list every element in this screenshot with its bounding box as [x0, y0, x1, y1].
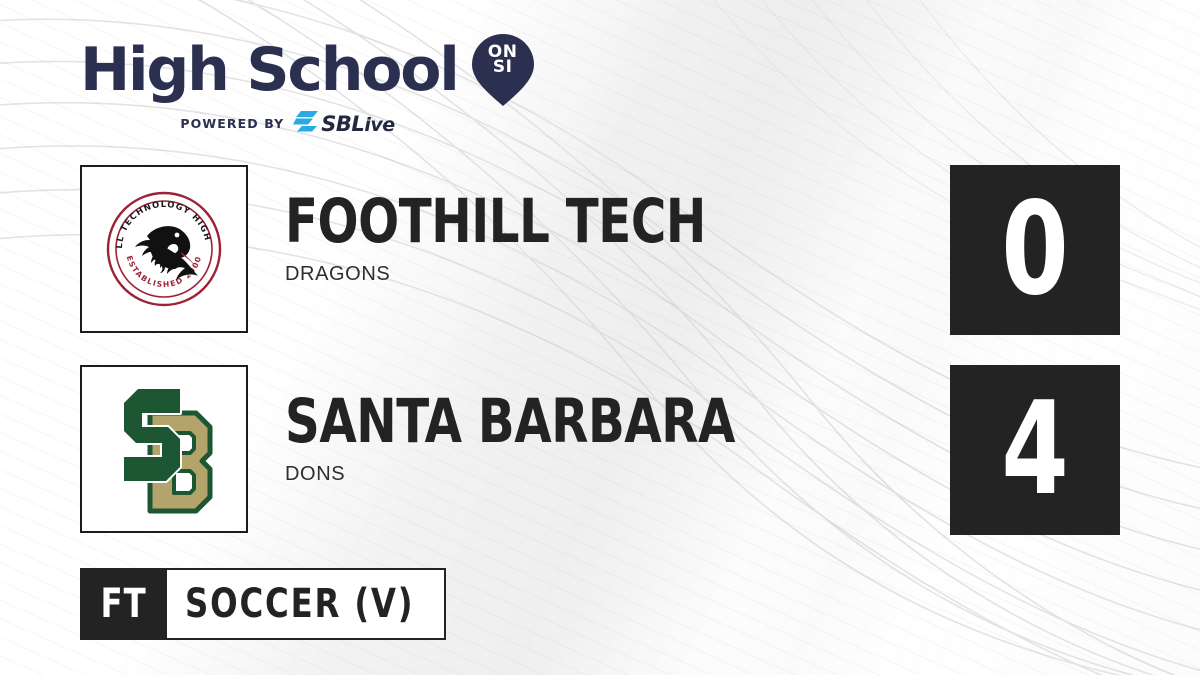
on-si-pin-icon: ON SI	[472, 34, 534, 106]
team-mascot: DRAGONS	[285, 263, 985, 286]
powered-by-row: POWERED BY SBLive	[80, 110, 495, 137]
status-period-label: FT	[100, 581, 146, 627]
team-logo-box	[80, 365, 248, 533]
status-period-badge: FT	[80, 568, 167, 640]
status-event-label: SOCCER (V)	[185, 581, 414, 627]
foothill-tech-dragons-crest-icon: FOOTHILL TECHNOLOGY HIGH SCHOOL ESTABLIS…	[105, 190, 223, 308]
sblive-suffix: ive	[364, 114, 394, 136]
team-logo-box: FOOTHILL TECHNOLOGY HIGH SCHOOL ESTABLIS…	[80, 165, 248, 333]
sblive-mark-icon	[293, 110, 319, 137]
team-score-box: 0	[950, 165, 1120, 335]
scoreboard-graphic: High School ON SI POWERED BY SBL	[0, 0, 1200, 675]
team-score: 0	[1001, 186, 1068, 314]
team-name: SANTA BARBARA	[285, 391, 901, 453]
team-text-block: SANTA BARBARA DONS	[285, 391, 985, 486]
on-si-pin-label: ON SI	[472, 45, 534, 75]
brand-header: High School ON SI POWERED BY SBL	[80, 34, 534, 137]
santa-barbara-dons-sb-monogram-icon	[104, 379, 224, 519]
team-mascot: DONS	[285, 463, 985, 486]
team-score: 4	[1001, 386, 1068, 514]
powered-by-label: POWERED BY	[180, 116, 284, 131]
sblive-main: SBL	[321, 112, 364, 136]
brand-lockup: High School ON SI	[80, 34, 534, 106]
team-name: FOOTHILL TECH	[285, 191, 901, 253]
pin-line-si: SI	[472, 60, 534, 75]
sblive-wordmark: SBLive	[321, 112, 394, 136]
brand-title: High School	[80, 39, 458, 101]
status-event-box: SOCCER (V)	[167, 568, 446, 640]
game-status-bar: FT SOCCER (V)	[80, 568, 446, 640]
team-score-box: 4	[950, 365, 1120, 535]
team-text-block: FOOTHILL TECH DRAGONS	[285, 191, 985, 286]
